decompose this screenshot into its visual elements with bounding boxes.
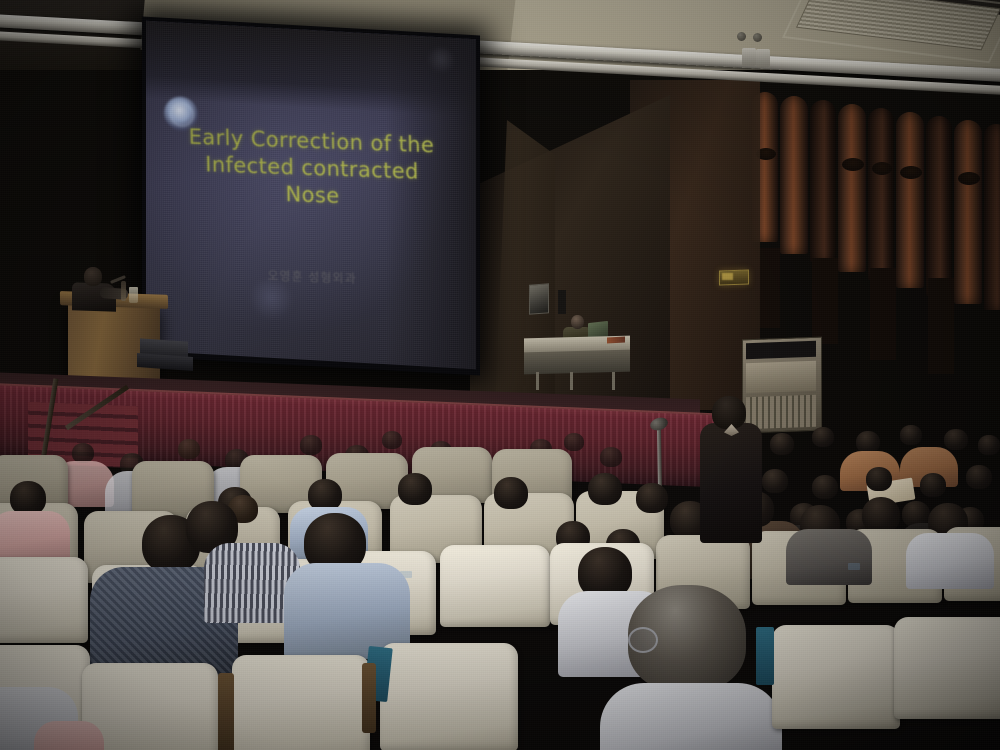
attendee-head xyxy=(10,481,46,515)
attendee-head xyxy=(588,473,622,505)
stage-wall-panel xyxy=(558,290,566,314)
seat-number-tag xyxy=(848,563,860,570)
moderator-head xyxy=(571,315,584,329)
column-gap xyxy=(928,278,954,374)
audience-seating xyxy=(0,425,1000,750)
seat-armrest xyxy=(218,673,234,750)
attendee-head xyxy=(762,469,788,493)
wall-column xyxy=(838,104,866,272)
attendee-head xyxy=(944,429,968,450)
wall-column xyxy=(926,116,952,296)
water-bottle xyxy=(121,281,126,301)
air-conditioner-panel xyxy=(746,361,816,393)
column-cap xyxy=(900,166,922,179)
slide-title: Early Correction of the Infected contrac… xyxy=(163,123,461,214)
projector-flare-icon xyxy=(250,279,292,321)
attendee-head xyxy=(382,431,402,449)
wall-column xyxy=(810,100,836,262)
wall-column xyxy=(984,124,1000,310)
eyeglasses-icon xyxy=(628,627,658,653)
wall-column xyxy=(896,112,924,288)
attendee-head xyxy=(966,465,992,489)
column-cap xyxy=(958,172,980,185)
stage-wall-window xyxy=(529,283,549,314)
column-gap xyxy=(870,268,896,360)
wall-column xyxy=(954,120,982,304)
seat[interactable] xyxy=(894,617,1000,719)
air-conditioner-grille-icon xyxy=(746,341,816,359)
seat[interactable] xyxy=(440,545,550,627)
attendee-torso xyxy=(786,529,872,585)
rail-screw xyxy=(737,32,746,41)
attendee-head xyxy=(636,483,668,513)
attendee-head xyxy=(564,433,584,451)
lecture-hall-photo: Early Correction of the Infected contrac… xyxy=(0,0,1000,750)
projector-corner-flare-icon xyxy=(428,47,454,74)
seat[interactable] xyxy=(380,643,518,750)
rail-bracket xyxy=(742,48,756,66)
column-cap xyxy=(842,158,864,171)
standing-man-body xyxy=(700,423,762,543)
attendee-torso xyxy=(906,533,994,589)
attendee-head xyxy=(900,425,922,445)
attendee-head xyxy=(856,431,880,453)
presenter-head xyxy=(84,267,102,286)
attendee-head xyxy=(812,475,838,499)
attendee-torso xyxy=(600,683,782,750)
attendee-head xyxy=(72,443,94,463)
column-cap xyxy=(872,162,892,175)
moderator-table-front xyxy=(524,350,630,375)
table-leg xyxy=(570,372,573,390)
attendee-head xyxy=(862,497,900,533)
projection-screen: Early Correction of the Infected contrac… xyxy=(146,21,476,369)
seat[interactable] xyxy=(0,557,88,643)
attendee-head xyxy=(178,439,200,459)
attendee-head xyxy=(978,435,1000,455)
moderator-book xyxy=(607,337,625,344)
attendee-torso xyxy=(34,721,104,750)
seat[interactable] xyxy=(772,625,900,729)
seat[interactable] xyxy=(232,655,370,750)
attendee-head xyxy=(812,427,834,447)
drinking-glass xyxy=(129,287,138,303)
attendee-head xyxy=(600,447,622,467)
attendee-head xyxy=(920,473,946,497)
rail-screw xyxy=(753,33,762,42)
exit-sign-glow-icon xyxy=(722,273,733,280)
rail-bracket xyxy=(756,49,770,67)
standing-man-head xyxy=(712,396,746,429)
seat-armrest xyxy=(362,663,376,733)
attendee-head xyxy=(866,467,892,491)
column-gap xyxy=(812,258,838,344)
attendee-head xyxy=(770,433,794,455)
wall-column xyxy=(868,108,894,280)
wall-column xyxy=(780,96,808,254)
attendee-head xyxy=(398,473,432,505)
table-leg xyxy=(536,372,539,390)
attendee-head xyxy=(300,435,322,455)
table-leg xyxy=(612,372,615,390)
seat-fabric-panel xyxy=(756,627,774,685)
attendee-head xyxy=(494,477,528,509)
